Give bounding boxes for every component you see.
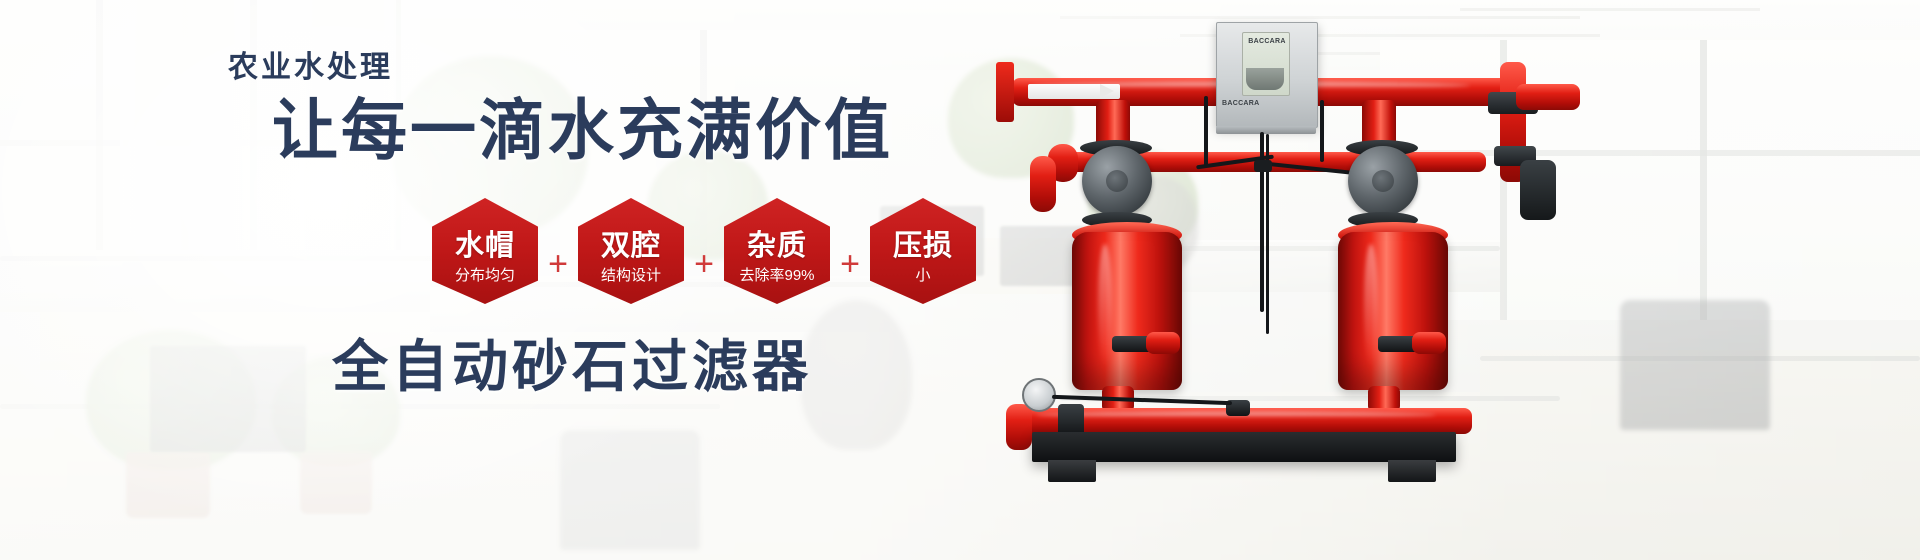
tank-highlight-right <box>1364 244 1378 368</box>
inlet-flange <box>996 62 1014 122</box>
controller-brand-label: BACCARA <box>1246 38 1288 45</box>
plus-separator-icon: + <box>684 221 724 281</box>
base-foot <box>1388 460 1436 482</box>
filter-tank-left <box>1072 232 1182 390</box>
flow-arrow-icon <box>1100 84 1114 98</box>
control-wire <box>1320 100 1324 162</box>
plus-separator-icon: + <box>538 221 578 281</box>
controller-knob <box>1246 68 1284 90</box>
badge-title: 杂质 <box>747 232 807 261</box>
feature-badge[interactable]: 压损 小 <box>870 198 976 304</box>
badge-title: 双腔 <box>601 232 661 261</box>
badge-subtitle: 分布均匀 <box>455 268 515 283</box>
product-image-sand-filter: BACCARA BACCARA <box>960 0 1580 560</box>
badge-title: 水帽 <box>455 232 515 261</box>
badge-subtitle: 结构设计 <box>601 268 661 283</box>
base-foot <box>1048 460 1096 482</box>
kicker-text: 农业水处理 <box>228 42 393 86</box>
steel-base-frame <box>1032 432 1456 462</box>
product-headline: 全自动砂石过滤器 <box>332 322 812 403</box>
tank-side-nozzle-left <box>1146 332 1180 354</box>
controller-bracket <box>1216 126 1316 134</box>
feature-badge[interactable]: 杂质 去除率99% <box>724 198 830 304</box>
side-valve <box>1520 160 1556 220</box>
feature-badge[interactable]: 水帽 分布均匀 <box>432 198 538 304</box>
feature-badge[interactable]: 双腔 结构设计 <box>578 198 684 304</box>
valve-cap-right <box>1372 170 1394 192</box>
controller-brand-footer: BACCARA <box>1222 100 1292 107</box>
badge-title: 压损 <box>893 232 953 261</box>
control-wire <box>1204 96 1208 166</box>
badge-subtitle: 小 <box>915 268 930 283</box>
pressure-gauge <box>1022 378 1056 412</box>
filter-tank-right <box>1338 232 1448 390</box>
wire-clamp <box>1254 160 1272 172</box>
plus-separator-icon: + <box>830 221 870 281</box>
tank-side-nozzle-right <box>1412 332 1446 354</box>
manifold-end-cap <box>1006 404 1032 450</box>
air-release-vessel <box>1030 156 1056 212</box>
valve-cap-left <box>1106 170 1128 192</box>
main-headline: 让每一滴水充满价值 <box>272 96 893 165</box>
badge-subtitle: 去除率99% <box>739 268 814 283</box>
feature-badge-row: 水帽 分布均匀 + 双腔 结构设计 + 杂质 去除率99% + 压损 小 <box>432 198 976 304</box>
promo-banner: BACCARA BACCARA <box>0 0 1920 560</box>
outlet-pipe <box>1516 84 1580 110</box>
tank-highlight-left <box>1098 244 1112 368</box>
